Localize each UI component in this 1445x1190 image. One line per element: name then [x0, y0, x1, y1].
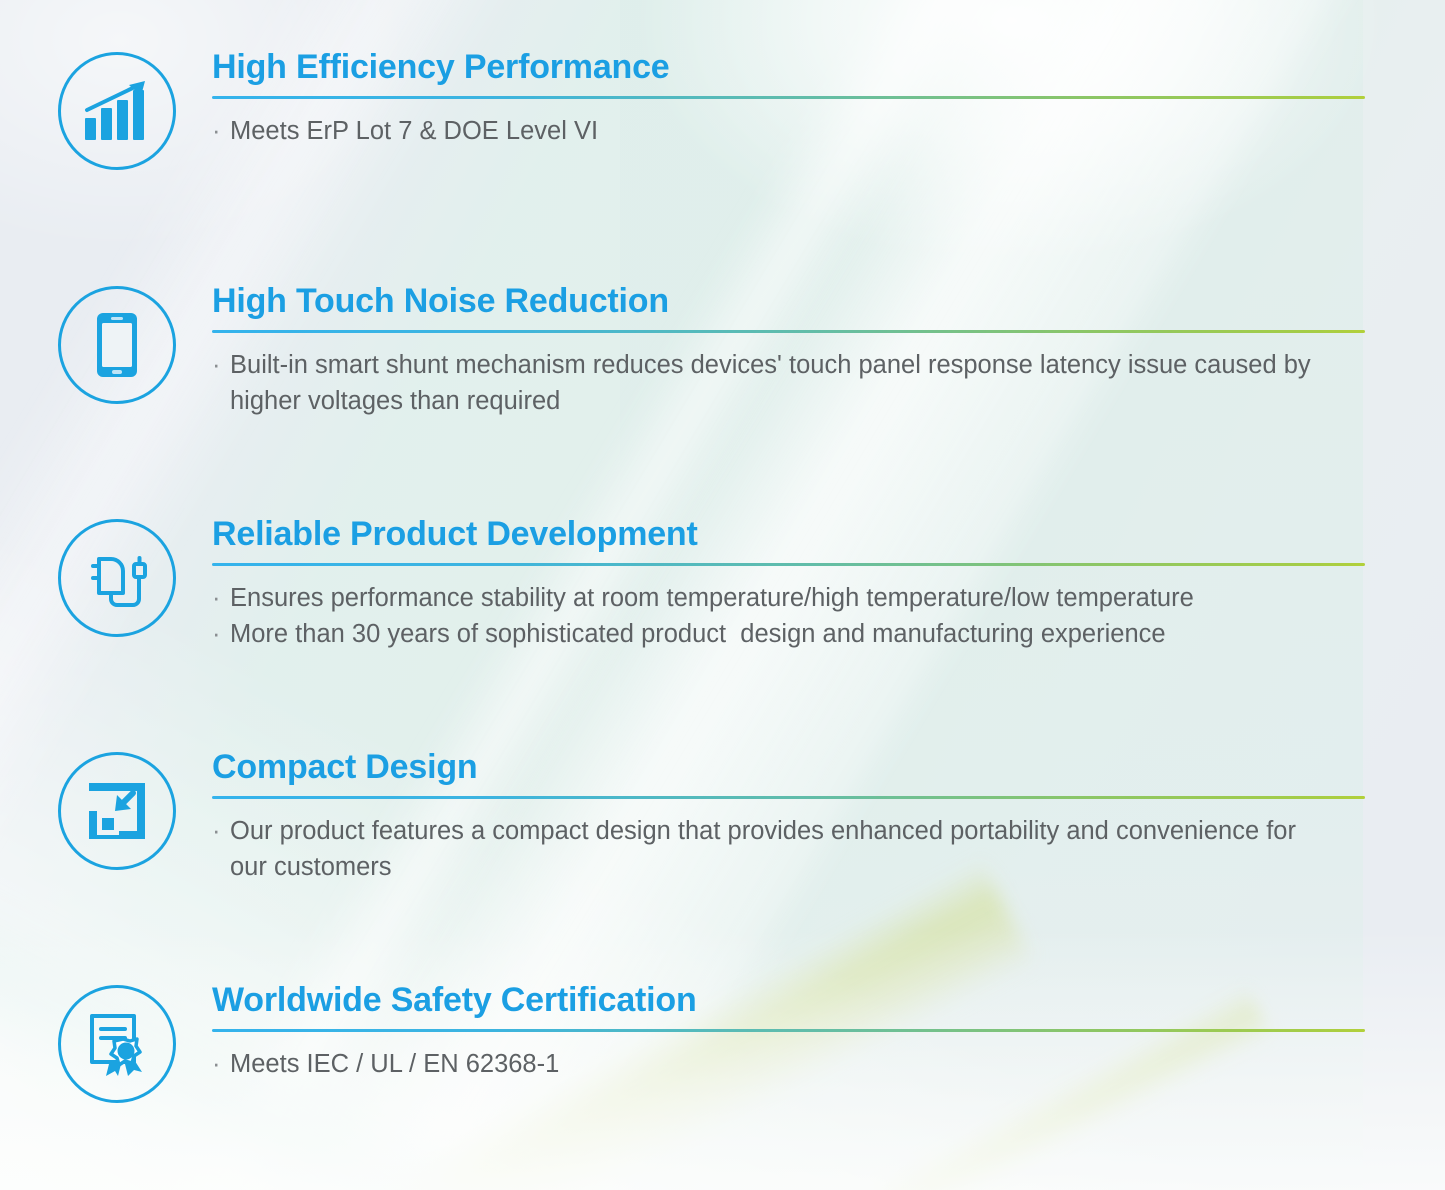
feature-divider	[212, 1029, 1365, 1032]
bullet-text: Our product features a compact design th…	[230, 813, 1315, 885]
feature-icon-wrap	[56, 517, 178, 639]
bullet-item: · Our product features a compact design …	[212, 813, 1445, 885]
feature-bullets: · Meets ErP Lot 7 & DOE Level VI	[212, 113, 1445, 149]
feature-divider	[212, 563, 1365, 566]
feature-highlights-page: High Efficiency Performance · Meets ErP …	[0, 0, 1445, 1190]
bullet-text: More than 30 years of sophisticated prod…	[230, 616, 1445, 652]
feature-bullets: · Ensures performance stability at room …	[212, 580, 1445, 652]
feature-text-block: High Efficiency Performance · Meets ErP …	[212, 50, 1445, 149]
feature-divider	[212, 96, 1365, 99]
smartphone-icon	[58, 286, 176, 404]
bullet-item: · Ensures performance stability at room …	[212, 580, 1445, 616]
feature-icon-wrap	[56, 284, 178, 406]
feature-text-block: Reliable Product Development · Ensures p…	[212, 517, 1445, 652]
bullet-marker: ·	[212, 580, 230, 616]
bullet-item: · Built-in smart shunt mechanism reduces…	[212, 347, 1445, 419]
feature-icon-wrap	[56, 983, 178, 1105]
bar-chart-growth-icon	[58, 52, 176, 170]
feature-bullets: · Built-in smart shunt mechanism reduces…	[212, 347, 1445, 419]
feature-bullets: · Our product features a compact design …	[212, 813, 1445, 885]
feature-title: High Touch Noise Reduction	[212, 284, 1445, 319]
feature-divider	[212, 796, 1365, 799]
feature-text-block: Compact Design · Our product features a …	[212, 750, 1445, 885]
feature-title: Compact Design	[212, 750, 1445, 785]
bullet-marker: ·	[212, 1046, 230, 1082]
bullet-text: Meets ErP Lot 7 & DOE Level VI	[230, 113, 1445, 149]
power-adapter-icon	[58, 519, 176, 637]
feature-text-block: Worldwide Safety Certification · Meets I…	[212, 983, 1445, 1082]
feature-bullets: · Meets IEC / UL / EN 62368-1	[212, 1046, 1445, 1082]
bullet-text: Ensures performance stability at room te…	[230, 580, 1445, 616]
bullet-item: · Meets IEC / UL / EN 62368-1	[212, 1046, 1445, 1082]
bullet-marker: ·	[212, 347, 230, 383]
bullet-marker: ·	[212, 113, 230, 149]
bullet-marker: ·	[212, 616, 230, 652]
feature-icon-wrap	[56, 750, 178, 872]
bullet-item: · More than 30 years of sophisticated pr…	[212, 616, 1445, 652]
feature-divider	[212, 330, 1365, 333]
bullet-marker: ·	[212, 813, 230, 849]
bullet-text: Meets IEC / UL / EN 62368-1	[230, 1046, 1445, 1082]
compact-resize-icon	[58, 752, 176, 870]
feature-title: Reliable Product Development	[212, 517, 1445, 552]
feature-text-block: High Touch Noise Reduction · Built-in sm…	[212, 284, 1445, 419]
feature-title: Worldwide Safety Certification	[212, 983, 1445, 1018]
feature-icon-wrap	[56, 50, 178, 172]
bullet-text: Built-in smart shunt mechanism reduces d…	[230, 347, 1380, 419]
feature-title: High Efficiency Performance	[212, 50, 1445, 85]
bullet-item: · Meets ErP Lot 7 & DOE Level VI	[212, 113, 1445, 149]
certificate-seal-icon	[58, 985, 176, 1103]
